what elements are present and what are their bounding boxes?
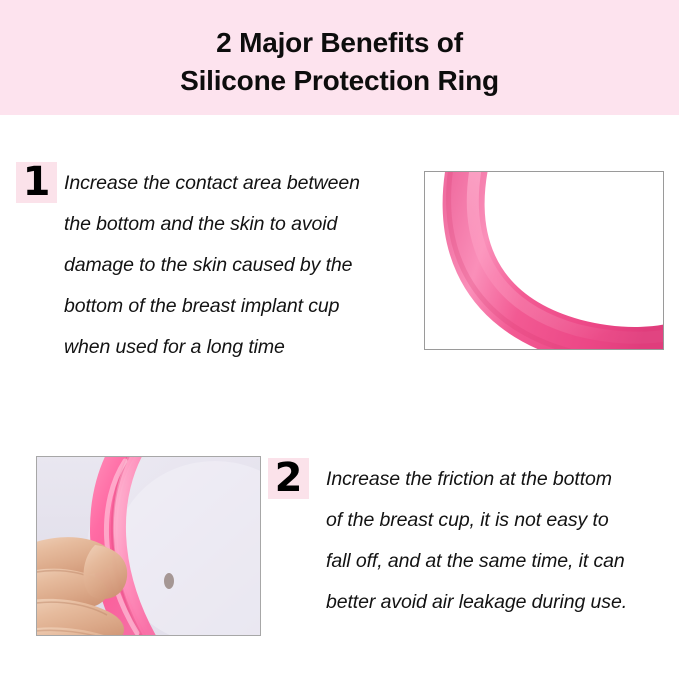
benefit-1-line-5: when used for a long time xyxy=(64,327,409,368)
benefit-2-line-3: fall off, and at the same time, it can xyxy=(326,541,671,582)
page-title-line-1: 2 Major Benefits of xyxy=(0,24,679,62)
page-title: 2 Major Benefits of Silicone Protection … xyxy=(0,24,679,100)
benefit-1-line-3: damage to the skin caused by the xyxy=(64,245,409,286)
benefit-description-2: Increase the friction at the bottom of t… xyxy=(326,459,671,623)
page-title-line-2: Silicone Protection Ring xyxy=(0,62,679,100)
hand-holding-ring-on-cup-image xyxy=(37,457,260,635)
benefit-1-line-1: Increase the contact area between xyxy=(64,163,409,204)
benefit-number-badge-2: 2 xyxy=(268,458,309,499)
benefit-2-line-1: Increase the friction at the bottom xyxy=(326,459,671,500)
benefit-1-line-2: the bottom and the skin to avoid xyxy=(64,204,409,245)
benefit-2-line-4: better avoid air leakage during use. xyxy=(326,582,671,623)
benefit-number-badge-1: 1 xyxy=(16,162,57,203)
benefit-description-1: Increase the contact area between the bo… xyxy=(64,163,409,368)
silicone-ring-closeup-image xyxy=(425,172,663,349)
hand-holding-ring-on-cup-photo xyxy=(36,456,261,636)
silicone-ring-closeup-photo xyxy=(424,171,664,350)
benefit-2-line-2: of the breast cup, it is not easy to xyxy=(326,500,671,541)
benefit-1-line-4: bottom of the breast implant cup xyxy=(64,286,409,327)
